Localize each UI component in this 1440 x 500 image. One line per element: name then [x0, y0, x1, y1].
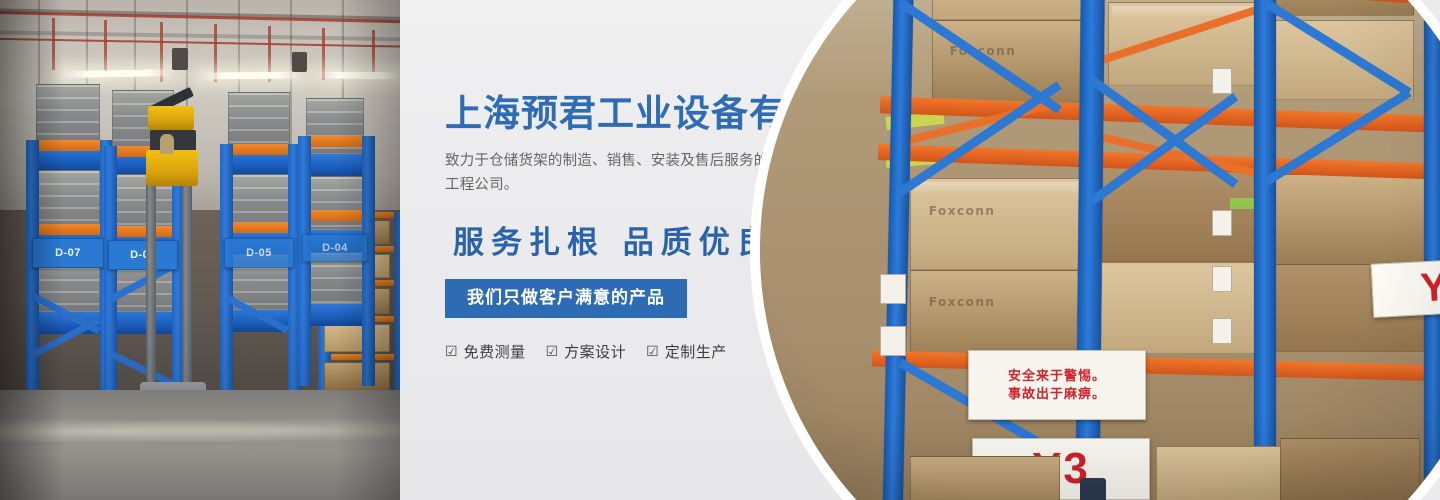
safety-sign: 安全来于警惕。 事故出于麻痹。: [968, 350, 1146, 420]
carton: Foxconn: [932, 0, 1100, 20]
forklift-operator: [1080, 478, 1106, 500]
promo-banner: D-07 D-06: [0, 0, 1440, 500]
location-tag: [1212, 68, 1232, 94]
forklift-platform: [146, 150, 198, 186]
ceiling-light: [196, 72, 306, 80]
left-warehouse-photo: D-07 D-06: [0, 0, 400, 500]
cta-button[interactable]: 我们只做客户满意的产品: [445, 279, 687, 318]
pallet-stack: [36, 84, 100, 334]
carton: [1266, 20, 1414, 100]
shrink-wrap: [914, 182, 1084, 194]
right-warehouse-photo: Foxconn Foxconn Foxconn Foxconn: [760, 0, 1440, 500]
safety-sign-line-2: 事故出于麻痹。: [1008, 385, 1106, 403]
bay-sign-label: Y3: [1419, 263, 1440, 311]
carton-brand: Foxconn: [929, 295, 996, 309]
rack-beam: [222, 144, 298, 155]
aisle-label: D-07: [32, 238, 104, 268]
carton: Foxconn: [910, 270, 1090, 358]
ceiling-light: [318, 72, 400, 80]
carton: Foxconn: [932, 20, 1100, 104]
location-tag: [880, 274, 906, 304]
duct-fixture: [172, 48, 188, 70]
checkbox-checked-icon: ☑: [646, 344, 659, 358]
carton: [910, 456, 1060, 500]
carton: [1280, 438, 1420, 500]
rack-upright: [1254, 0, 1276, 500]
pallet-stack: [228, 92, 290, 332]
rack-beam: [30, 224, 108, 235]
duct-fixture: [292, 52, 307, 72]
floor: [0, 390, 400, 500]
location-tag: [1212, 266, 1232, 292]
operator: [160, 134, 174, 154]
feature-item-free-measure: ☑ 免费测量: [445, 341, 526, 362]
rack-beam: [222, 222, 298, 233]
location-tag: [880, 326, 906, 356]
checkbox-checked-icon: ☑: [445, 344, 458, 358]
forklift-cab: [148, 106, 194, 130]
location-tag: [1212, 210, 1232, 236]
feature-item-plan-design: ☑ 方案设计: [546, 341, 627, 362]
floor-glow: [0, 416, 400, 442]
rack-upright: [220, 144, 233, 392]
rack-beam: [30, 140, 108, 151]
carton: [1156, 446, 1286, 500]
hanger-rod: [52, 18, 55, 70]
feature-label: 免费测量: [464, 341, 526, 362]
hanger-rod: [104, 20, 107, 76]
feature-item-custom-production: ☑ 定制生产: [646, 341, 727, 362]
aisle-label: D-04: [302, 234, 368, 262]
right-photo-wrap: Foxconn Foxconn Foxconn Foxconn: [920, 0, 1440, 500]
carton: [1100, 262, 1266, 354]
feature-label: 方案设计: [564, 341, 626, 362]
bay-sign: Y3: [1371, 256, 1440, 318]
aisle-label: D-06: [108, 240, 178, 270]
feature-label: 定制生产: [665, 341, 727, 362]
hanger-rod: [372, 30, 375, 78]
rack-beam: [106, 226, 182, 237]
rack-upright: [1424, 0, 1440, 500]
safety-sign-line-1: 安全来于警惕。: [1008, 367, 1106, 385]
carton: [1274, 174, 1434, 264]
checkbox-checked-icon: ☑: [546, 344, 559, 358]
carton-brand: Foxconn: [929, 204, 996, 218]
aisle-label: D-05: [224, 238, 294, 268]
location-tag: [1212, 318, 1232, 344]
